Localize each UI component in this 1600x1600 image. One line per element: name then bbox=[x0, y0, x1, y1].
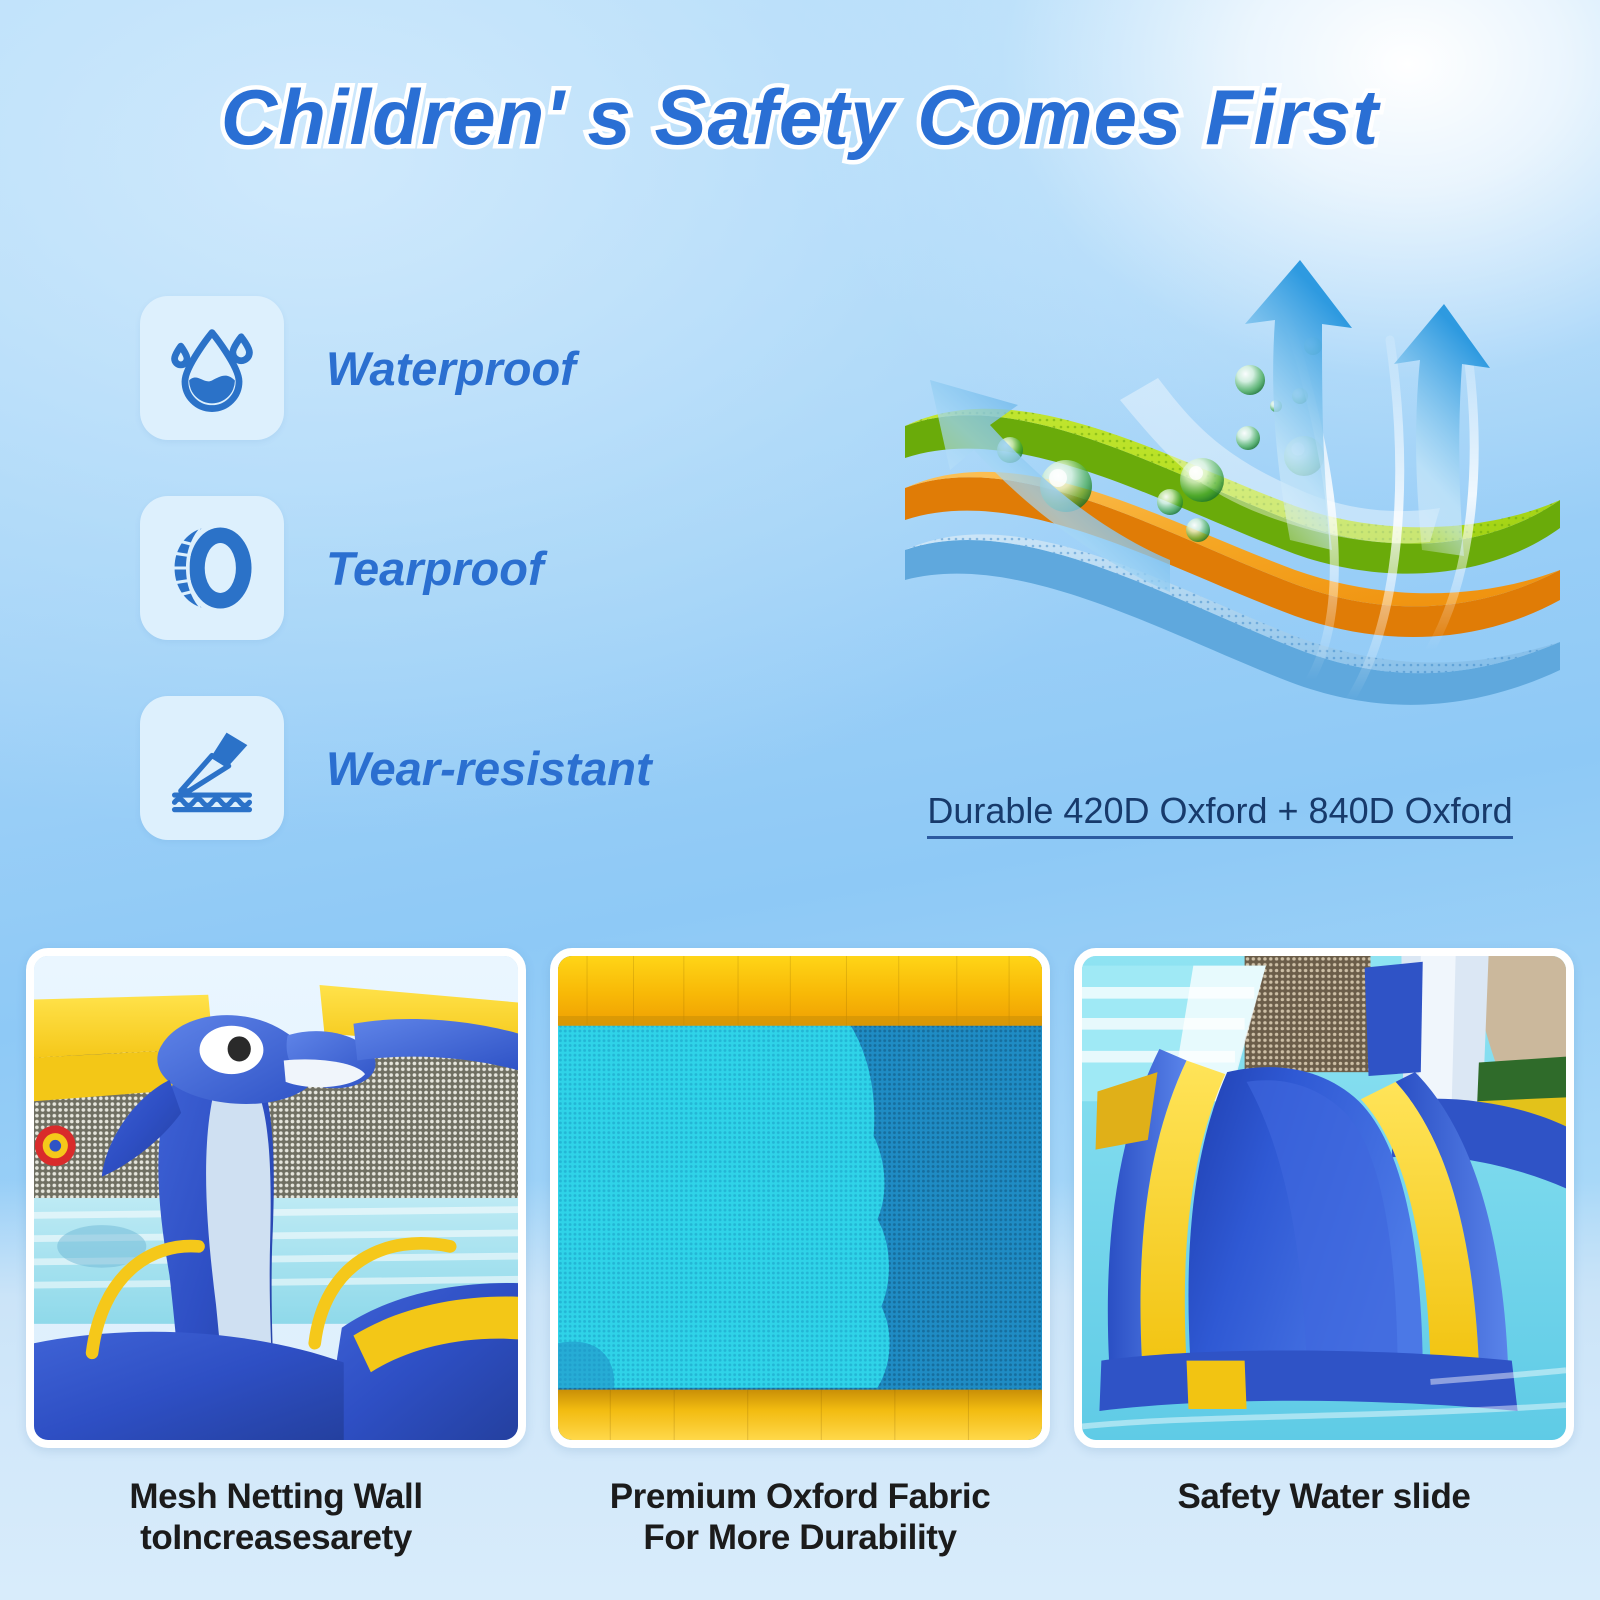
feature-label: Waterproof bbox=[326, 341, 576, 396]
photo-caption: Safety Water slide bbox=[1074, 1476, 1574, 1517]
feature-item-tearproof: Tearproof bbox=[140, 488, 820, 648]
feature-list: Waterproof Tearproof bbox=[140, 288, 820, 888]
feature-label: Tearproof bbox=[326, 541, 544, 596]
photo-caption: Premium Oxford Fabric For More Durabilit… bbox=[550, 1476, 1050, 1559]
photo-card-oxford-fabric: Premium Oxford Fabric For More Durabilit… bbox=[550, 948, 1050, 1559]
caption-line-1: Premium Oxford Fabric bbox=[610, 1477, 991, 1516]
caption-line-2: For More Durability bbox=[550, 1517, 1050, 1558]
caption-line-1: Safety Water slide bbox=[1177, 1477, 1470, 1516]
feature-item-waterproof: Waterproof bbox=[140, 288, 820, 448]
photo-caption: Mesh Netting Wall toIncreasesarety bbox=[26, 1476, 526, 1559]
fabric-layers-illustration bbox=[870, 250, 1570, 810]
water-drop-icon bbox=[140, 296, 284, 440]
blade-wear-icon bbox=[140, 696, 284, 840]
fabric-caption: Durable 420D Oxford + 840D Oxford bbox=[870, 790, 1570, 832]
caption-line-1: Mesh Netting Wall bbox=[129, 1477, 422, 1516]
photo-card-row: Mesh Netting Wall toIncreasesarety bbox=[0, 948, 1600, 1559]
photo-card-mesh-netting: Mesh Netting Wall toIncreasesarety bbox=[26, 948, 526, 1559]
feature-label: Wear-resistant bbox=[326, 741, 652, 796]
fabric-caption-text: Durable 420D Oxford + 840D Oxford bbox=[927, 790, 1512, 839]
blue-water-slide-photo bbox=[1074, 948, 1574, 1448]
caption-line-2: toIncreasesarety bbox=[26, 1517, 526, 1558]
feature-item-wear-resistant: Wear-resistant bbox=[140, 688, 820, 848]
page-title: Children' s Safety Comes First bbox=[0, 72, 1600, 163]
photo-card-water-slide: Safety Water slide bbox=[1074, 948, 1574, 1559]
tire-icon bbox=[140, 496, 284, 640]
inflatable-dolphin-bounce-house-photo bbox=[26, 948, 526, 1448]
oxford-mesh-fabric-closeup-photo bbox=[550, 948, 1050, 1448]
